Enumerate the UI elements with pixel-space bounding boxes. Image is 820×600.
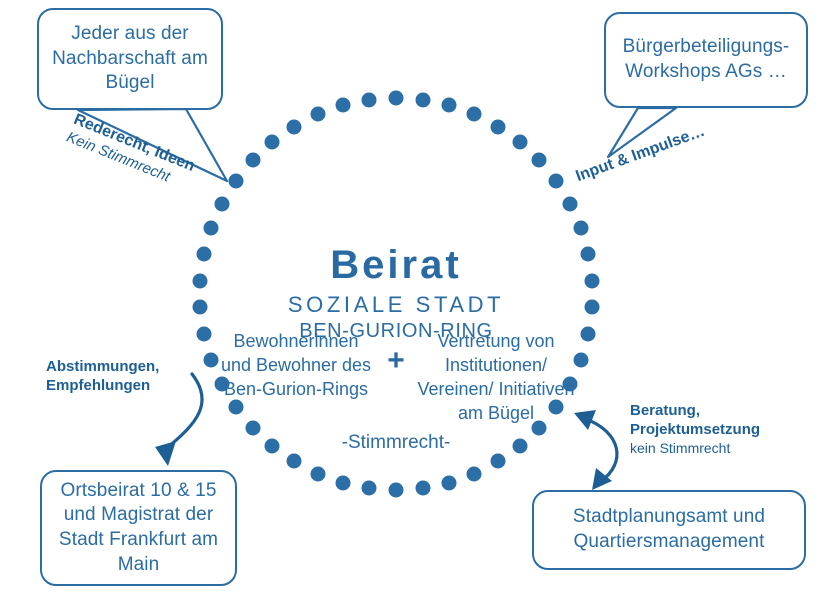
ring-dot xyxy=(467,466,482,481)
box-stadtplanungsamt[interactable]: Stadtplanungsamt und Quartiersmanagement xyxy=(532,490,806,570)
ring-dot xyxy=(336,475,351,490)
ring-dot xyxy=(193,300,208,315)
ring-dot xyxy=(584,300,599,315)
ring-dot xyxy=(245,420,260,435)
ring-dot xyxy=(214,377,229,392)
ring-dot xyxy=(310,466,325,481)
label-beratung-line2: Projektumsetzung xyxy=(630,421,760,440)
ring-dot xyxy=(193,273,208,288)
voting-rights-note: -Stimmrecht- xyxy=(342,432,451,454)
ring-dot xyxy=(389,91,404,106)
ring-dot xyxy=(204,352,219,367)
ring-dot xyxy=(245,153,260,168)
ring-dot xyxy=(389,483,404,498)
ring-dot xyxy=(532,153,547,168)
ring-dot xyxy=(573,352,588,367)
box-ortsbeirat-magistrat[interactable]: Ortsbeirat 10 & 15 und Magistrat der Sta… xyxy=(40,470,237,586)
ring-dot xyxy=(415,481,430,496)
box-ortsbeirat-text: Ortsbeirat 10 & 15 und Magistrat der Sta… xyxy=(42,479,235,578)
bubble-workshops-text: Bürgerbeteiligungs- Workshops AGs … xyxy=(606,35,806,84)
ring-dot xyxy=(441,475,456,490)
label-abstimmungen: Abstimmungen, Empfehlungen xyxy=(46,358,159,396)
ring-dot xyxy=(580,326,595,341)
ring-dot xyxy=(214,196,229,211)
ring-dot xyxy=(362,92,377,107)
box-stadtplanungsamt-text: Stadtplanungsamt und Quartiersmanagement xyxy=(534,505,804,554)
ring-dot xyxy=(549,173,564,188)
ring-dot xyxy=(573,221,588,236)
ring-dot xyxy=(197,247,212,262)
ring-dot xyxy=(265,439,280,454)
ring-dot xyxy=(490,454,505,469)
ring-dot xyxy=(287,119,302,134)
ring-dot xyxy=(336,98,351,113)
ring-dot xyxy=(467,107,482,122)
ring-dot xyxy=(415,92,430,107)
ring-dot xyxy=(310,107,325,122)
ring-dot xyxy=(490,119,505,134)
ring-dot xyxy=(512,439,527,454)
ring-dot xyxy=(362,481,377,496)
label-beratung: Beratung, Projektumsetzung kein Stimmrec… xyxy=(630,402,760,457)
ring-dot xyxy=(563,196,578,211)
ring-dot xyxy=(580,247,595,262)
label-abstimmungen-line1: Abstimmungen, xyxy=(46,358,159,377)
ring-dot xyxy=(532,420,547,435)
ring-dot xyxy=(228,400,243,415)
label-beratung-line1: Beratung, xyxy=(630,402,760,421)
bubble-workshops[interactable]: Bürgerbeteiligungs- Workshops AGs … xyxy=(604,12,808,108)
ring-dot xyxy=(549,400,564,415)
diagram-canvas: Beirat SOZIALE STADT BEN-GURION-RING Bew… xyxy=(0,0,820,600)
ring-dot xyxy=(265,134,280,149)
ring-dot xyxy=(584,273,599,288)
ring-dot xyxy=(441,98,456,113)
ring-dot xyxy=(563,377,578,392)
ring-dot xyxy=(287,454,302,469)
ring-dot xyxy=(204,221,219,236)
ring-dot xyxy=(512,134,527,149)
ring-dot xyxy=(228,173,243,188)
label-beratung-line3: kein Stimmrecht xyxy=(630,440,760,458)
bubble-neighbourhood[interactable]: Jeder aus der Nachbarschaft am Bügel xyxy=(37,8,223,110)
ring-dot xyxy=(197,326,212,341)
label-abstimmungen-line2: Empfehlungen xyxy=(46,377,159,396)
bubble-neighbourhood-text: Jeder aus der Nachbarschaft am Bügel xyxy=(39,22,221,96)
